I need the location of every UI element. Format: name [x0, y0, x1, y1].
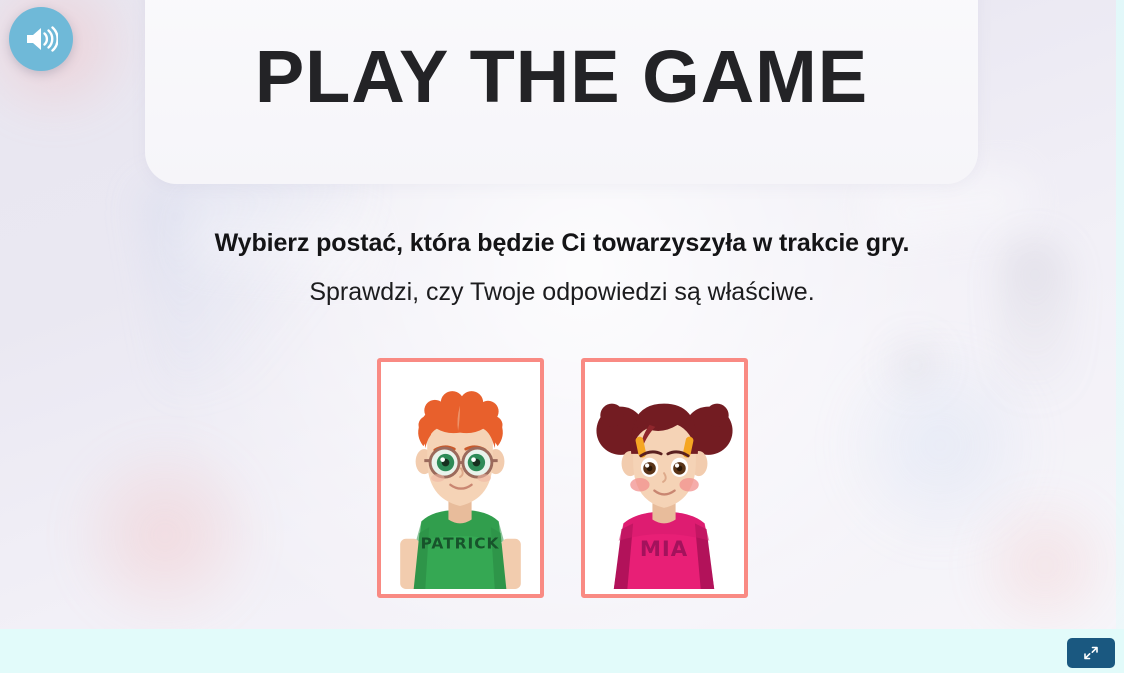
sound-toggle-button[interactable]	[9, 7, 73, 71]
speaker-on-icon	[24, 24, 58, 54]
expand-arrows-icon	[1083, 645, 1099, 661]
page-title: PLAY THE GAME	[255, 40, 868, 114]
character-avatar-mia: MIA	[590, 367, 739, 589]
character-avatar-patrick: PATRICK	[386, 367, 535, 589]
instruction-secondary-text: Sprawdzi, czy Twoje odpowiedzi są właści…	[0, 277, 1124, 308]
title-card: PLAY THE GAME	[145, 0, 978, 184]
character-shirt-label-mia: MIA	[639, 537, 687, 562]
character-card-mia[interactable]: MIA	[581, 358, 748, 598]
character-shirt-label-patrick: PATRICK	[420, 534, 499, 552]
instruction-primary-text: Wybierz postać, która będzie Ci towarzys…	[0, 228, 1124, 259]
instructions-block: Wybierz postać, która będzie Ci towarzys…	[0, 228, 1124, 309]
character-choice-row: PATRICK	[0, 358, 1124, 598]
game-stage: PLAY THE GAME Wybierz postać, która będz…	[0, 0, 1124, 673]
character-card-patrick[interactable]: PATRICK	[377, 358, 544, 598]
bottom-bar	[0, 629, 1124, 673]
fullscreen-button[interactable]	[1067, 638, 1115, 668]
